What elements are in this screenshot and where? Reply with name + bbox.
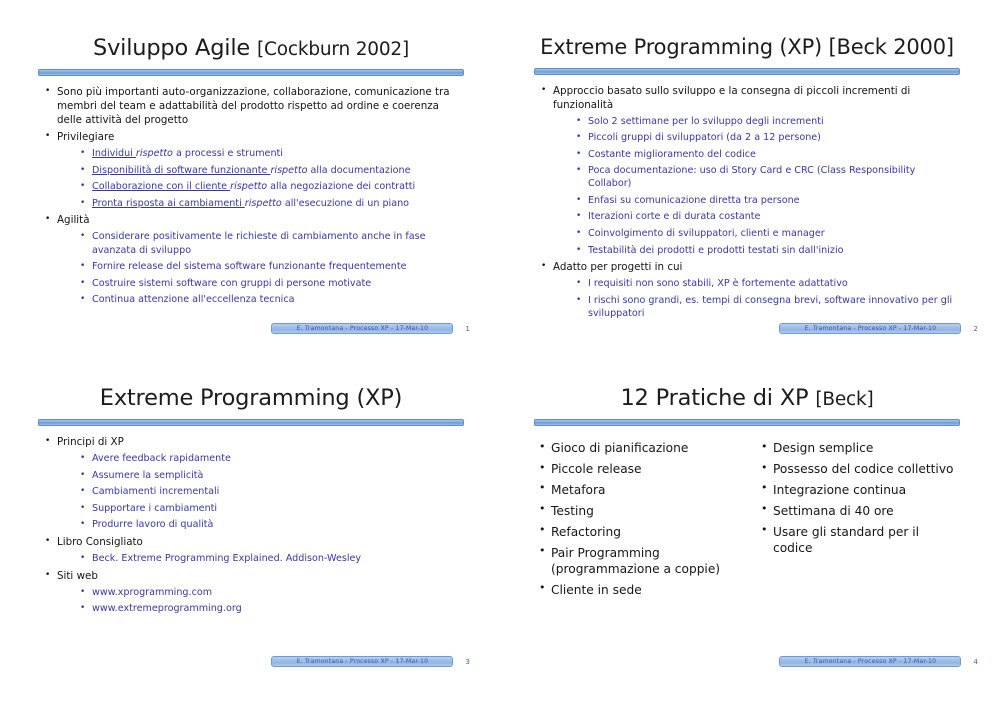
bullet-level2: •Assumere la semplicità: [79, 469, 464, 482]
bullet-level2-text-italic: rispetto: [245, 198, 282, 209]
bullet-level2-text: Poca documentazione: uso di Story Card e…: [588, 165, 915, 189]
bullet-level2-text: Fornire release del sistema software fun…: [92, 261, 407, 272]
bullet-level2-text: Coinvolgimento di sviluppatori, clienti …: [588, 228, 825, 239]
bullet-level2-text: all'esecuzione di un piano: [282, 198, 409, 209]
footer-text: E. Tramontana - Processo XP - 17-Mar-10: [297, 325, 429, 332]
bullet-level2-text: a processi e strumenti: [173, 148, 283, 159]
bullet-dot-icon: •: [80, 518, 85, 530]
bullet-level2-text: Piccoli gruppi di sviluppatori (da 2 a 1…: [588, 132, 821, 143]
bullet-level2-text-underline: Pronta risposta ai cambiamenti: [92, 198, 245, 209]
practices-column-left: •Gioco di pianificazione •Piccole releas…: [538, 440, 738, 602]
slide-3-footer: E. Tramontana - Processo XP - 17-Mar-10 …: [271, 656, 470, 667]
bullet-dot-icon: •: [80, 197, 85, 209]
slide-3-accent-bar: [38, 419, 464, 426]
bullet-level2-text: Beck. Extreme Programming Explained. Add…: [92, 553, 361, 564]
bullet-dot-icon: •: [45, 130, 50, 142]
bullet-level2-text: Supportare i cambiamenti: [92, 503, 217, 514]
bullet-dot-icon: •: [80, 469, 85, 481]
bullet-level2-text-link[interactable]: www.xprogramming.com: [92, 587, 212, 598]
bullet-level2: •Beck. Extreme Programming Explained. Ad…: [79, 552, 464, 565]
bullet-level2: •Costante miglioramento del codice: [575, 148, 960, 161]
bullet-level2-text: Costante miglioramento del codice: [588, 149, 756, 160]
bullet-dot-icon: •: [80, 277, 85, 289]
bullet-level2-text: Cambiamenti incrementali: [92, 486, 219, 497]
bullet-dot-icon: •: [80, 260, 85, 272]
bullet-level2-text: Enfasi su comunicazione diretta tra pers…: [588, 195, 800, 206]
bullet-level2-text: I requisiti non sono stabili, XP è forte…: [588, 278, 848, 289]
bullet-level1: • Libro Consigliato •Beck. Extreme Progr…: [44, 535, 464, 565]
bullet-level2-text-italic: rispetto: [230, 181, 267, 192]
bullet-level1-text: Agilità: [57, 214, 90, 226]
practice-item: •Refactoring: [538, 524, 738, 540]
slide-4-accent-bar: [534, 419, 960, 426]
bullet-dot-icon: •: [539, 523, 546, 538]
bullet-level1: • Adatto per progetti in cui •I requisit…: [540, 260, 960, 320]
bullet-level2-text: Continua attenzione all'eccellenza tecni…: [92, 294, 294, 305]
bullet-dot-icon: •: [45, 535, 50, 547]
bullet-level2-text: Considerare positivamente le richieste d…: [92, 231, 426, 255]
slide-1-title-main: Sviluppo Agile: [93, 35, 257, 61]
bullet-level2-text: Produrre lavoro di qualità: [92, 519, 213, 530]
bullet-dot-icon: •: [539, 461, 546, 476]
bullet-dot-icon: •: [576, 115, 581, 127]
slide-2-title-main: Extreme Programming (XP): [540, 35, 828, 59]
bullet-level2-text: Costruire sistemi software con gruppi di…: [92, 278, 371, 289]
bullet-level1-text: Privilegiare: [57, 131, 114, 143]
bullet-dot-icon: •: [80, 293, 85, 305]
bullet-dot-icon: •: [80, 485, 85, 497]
bullet-level2: •I requisiti non sono stabili, XP è fort…: [575, 277, 960, 290]
practice-item: •Piccole release: [538, 461, 738, 477]
footer-text: E. Tramontana - Processo XP - 17-Mar-10: [805, 658, 937, 665]
slide-number: 2: [973, 324, 978, 333]
bullet-level1-text: Adatto per progetti in cui: [553, 261, 682, 273]
practice-item: •Cliente in sede: [538, 582, 738, 598]
slide-3-title: Extreme Programming (XP): [38, 362, 464, 410]
slide-2-footer: E. Tramontana - Processo XP - 17-Mar-10 …: [779, 323, 978, 334]
practice-text: Piccole release: [551, 462, 642, 476]
bullet-dot-icon: •: [80, 452, 85, 464]
footer-plate: E. Tramontana - Processo XP - 17-Mar-10: [271, 323, 453, 334]
bullet-level1: • Privilegiare • Individui rispetto a pr…: [44, 130, 464, 210]
practice-text: Pair Programming (programmazione a coppi…: [551, 546, 720, 576]
bullet-dot-icon: •: [576, 244, 581, 256]
bullet-dot-icon: •: [80, 180, 85, 192]
slide-1[interactable]: Sviluppo Agile [Cockburn 2002] • Sono pi…: [0, 0, 496, 350]
slide-4-title: 12 Pratiche di XP [Beck]: [534, 362, 960, 410]
bullet-level2-text: I rischi sono grandi, es. tempi di conse…: [588, 295, 952, 319]
bullet-level2: • Considerare positivamente le richieste…: [79, 230, 464, 256]
bullet-dot-icon: •: [539, 502, 546, 517]
sub-bullet-list: •Beck. Extreme Programming Explained. Ad…: [57, 552, 464, 565]
slide-1-title: Sviluppo Agile [Cockburn 2002]: [38, 12, 464, 60]
practice-text: Settimana di 40 ore: [773, 504, 894, 518]
bullet-level2-text-link[interactable]: www.extremeprogramming.org: [92, 603, 242, 614]
bullet-level2: •Coinvolgimento di sviluppatori, clienti…: [575, 227, 960, 240]
slide-1-accent-bar: [38, 69, 464, 76]
bullet-level2: • Costruire sistemi software con gruppi …: [79, 277, 464, 290]
bullet-dot-icon: •: [80, 230, 85, 242]
bullet-level2: •Produrre lavoro di qualità: [79, 518, 464, 531]
slide-number: 4: [973, 657, 978, 666]
bullet-level2-text: Solo 2 settimane per lo sviluppo degli i…: [588, 116, 824, 127]
bullet-level2: •Supportare i cambiamenti: [79, 502, 464, 515]
practice-item: •Possesso del codice collettivo: [760, 461, 960, 477]
slide-2[interactable]: Extreme Programming (XP) [Beck 2000] • A…: [496, 0, 992, 350]
bullet-dot-icon: •: [576, 164, 581, 176]
footer-plate: E. Tramontana - Processo XP - 17-Mar-10: [271, 656, 453, 667]
bullet-dot-icon: •: [80, 552, 85, 564]
practice-item: •Integrazione continua: [760, 482, 960, 498]
bullet-level2-text: Assumere la semplicità: [92, 470, 203, 481]
bullet-level2: • Disponibilità di software funzionante …: [79, 164, 464, 177]
slide-4-footer: E. Tramontana - Processo XP - 17-Mar-10 …: [779, 656, 978, 667]
practice-text: Design semplice: [773, 441, 873, 455]
bullet-level2: •www.extremeprogramming.org: [79, 602, 464, 615]
bullet-dot-icon: •: [541, 84, 546, 96]
slide-1-title-citation: [Cockburn 2002]: [257, 39, 409, 60]
bullet-dot-icon: •: [45, 85, 50, 97]
slide-1-footer: E. Tramontana - Processo XP - 17-Mar-10 …: [271, 323, 470, 334]
bullet-level2: •Avere feedback rapidamente: [79, 452, 464, 465]
bullet-level2: • Collaborazione con il cliente rispetto…: [79, 180, 464, 193]
bullet-dot-icon: •: [761, 523, 768, 538]
bullet-dot-icon: •: [539, 440, 546, 455]
bullet-level2: •Testabilità dei prodotti e prodotti tes…: [575, 244, 960, 257]
bullet-dot-icon: •: [576, 131, 581, 143]
slide-2-title: Extreme Programming (XP) [Beck 2000]: [534, 12, 960, 59]
bullet-level1: • Agilità • Considerare positivamente le…: [44, 213, 464, 306]
bullet-dot-icon: •: [539, 581, 546, 596]
slide-number: 3: [465, 657, 470, 666]
bullet-dot-icon: •: [576, 194, 581, 206]
bullet-level2: •Piccoli gruppi di sviluppatori (da 2 a …: [575, 131, 960, 144]
practice-item: •Metafora: [538, 482, 738, 498]
sub-bullet-list: •I requisiti non sono stabili, XP è fort…: [553, 277, 960, 320]
slide-2-accent-bar: [534, 68, 960, 75]
sub-bullet-list: • Individui rispetto a processi e strume…: [57, 147, 464, 210]
bullet-dot-icon: •: [761, 461, 768, 476]
bullet-level1-text: Approccio basato sullo sviluppo e la con…: [553, 85, 910, 111]
practice-text: Cliente in sede: [551, 583, 642, 597]
footer-text: E. Tramontana - Processo XP - 17-Mar-10: [297, 658, 429, 665]
bullet-level2: • Continua attenzione all'eccellenza tec…: [79, 293, 464, 306]
practice-text: Possesso del codice collettivo: [773, 462, 954, 476]
sub-bullet-list: •www.xprogramming.com •www.extremeprogra…: [57, 586, 464, 616]
bullet-dot-icon: •: [761, 481, 768, 496]
bullet-level2: •Solo 2 settimane per lo sviluppo degli …: [575, 115, 960, 128]
bullet-dot-icon: •: [576, 210, 581, 222]
practice-text: Testing: [551, 504, 594, 518]
bullet-dot-icon: •: [576, 294, 581, 306]
bullet-dot-icon: •: [45, 213, 50, 225]
practice-item: •Usare gli standard per il codice: [760, 524, 960, 557]
practice-item: •Pair Programming (programmazione a copp…: [538, 545, 738, 578]
bullet-level2-text: Iterazioni corte e di durata costante: [588, 211, 760, 222]
bullet-level1: • Principi di XP •Avere feedback rapidam…: [44, 435, 464, 531]
bullet-level2-text-italic: rispetto: [270, 165, 307, 176]
bullet-dot-icon: •: [539, 481, 546, 496]
bullet-dot-icon: •: [45, 435, 50, 447]
practice-item: •Design semplice: [760, 440, 960, 456]
sub-bullet-list: •Solo 2 settimane per lo sviluppo degli …: [553, 115, 960, 257]
footer-plate: E. Tramontana - Processo XP - 17-Mar-10: [779, 323, 961, 334]
sub-bullet-list: •Avere feedback rapidamente •Assumere la…: [57, 452, 464, 531]
footer-text: E. Tramontana - Processo XP - 17-Mar-10: [805, 325, 937, 332]
bullet-level1-text: Sono più importanti auto-organizzazione,…: [57, 86, 450, 126]
bullet-level2: •Cambiamenti incrementali: [79, 485, 464, 498]
practice-text: Refactoring: [551, 525, 621, 539]
bullet-dot-icon: •: [761, 502, 768, 517]
bullet-level2: • Pronta risposta ai cambiamenti rispett…: [79, 197, 464, 210]
bullet-dot-icon: •: [541, 260, 546, 272]
practices-columns: •Gioco di pianificazione •Piccole releas…: [534, 440, 960, 602]
bullet-level2: •I rischi sono grandi, es. tempi di cons…: [575, 294, 960, 320]
bullet-dot-icon: •: [45, 569, 50, 581]
footer-plate: E. Tramontana - Processo XP - 17-Mar-10: [779, 656, 961, 667]
practice-item: •Settimana di 40 ore: [760, 503, 960, 519]
bullet-level2-text-underline: Individui: [92, 148, 136, 159]
bullet-dot-icon: •: [576, 277, 581, 289]
practice-text: Integrazione continua: [773, 483, 906, 497]
practice-text: Metafora: [551, 483, 606, 497]
bullet-level1: • Approccio basato sullo sviluppo e la c…: [540, 84, 960, 257]
bullet-level2-text: Avere feedback rapidamente: [92, 453, 231, 464]
bullet-dot-icon: •: [576, 227, 581, 239]
slide-2-bullet-list: • Approccio basato sullo sviluppo e la c…: [534, 84, 960, 320]
bullet-level1: • Siti web •www.xprogramming.com •www.ex…: [44, 569, 464, 616]
bullet-dot-icon: •: [576, 148, 581, 160]
bullet-level2: •www.xprogramming.com: [79, 586, 464, 599]
bullet-level2-text-italic: rispetto: [136, 148, 173, 159]
bullet-dot-icon: •: [80, 164, 85, 176]
slide-4-title-citation: [Beck]: [815, 389, 873, 410]
bullet-dot-icon: •: [761, 440, 768, 455]
practice-text: Gioco di pianificazione: [551, 441, 688, 455]
practice-item: •Testing: [538, 503, 738, 519]
bullet-dot-icon: •: [80, 586, 85, 598]
practices-column-right: •Design semplice •Possesso del codice co…: [760, 440, 960, 602]
bullet-level1-text: Siti web: [57, 570, 98, 582]
bullet-dot-icon: •: [80, 502, 85, 514]
bullet-level2-text-underline: Disponibilità di software funzionante: [92, 165, 270, 176]
bullet-level2: • Individui rispetto a processi e strume…: [79, 147, 464, 160]
slide-3-title-main: Extreme Programming (XP): [100, 385, 402, 411]
slide-3-bullet-list: • Principi di XP •Avere feedback rapidam…: [38, 435, 464, 615]
slide-1-bullet-list: • Sono più importanti auto-organizzazion…: [38, 85, 464, 306]
bullet-dot-icon: •: [80, 147, 85, 159]
bullet-dot-icon: •: [539, 544, 546, 559]
practice-text: Usare gli standard per il codice: [773, 525, 919, 555]
bullet-level2-text-underline: Collaborazione con il cliente: [92, 181, 230, 192]
bullet-level2-text: Testabilità dei prodotti e prodotti test…: [588, 245, 843, 256]
bullet-level1: • Sono più importanti auto-organizzazion…: [44, 85, 464, 127]
bullet-level1-text: Libro Consigliato: [57, 536, 143, 548]
bullet-level1-text: Principi di XP: [57, 436, 124, 448]
bullet-level2: •Iterazioni corte e di durata costante: [575, 210, 960, 223]
bullet-level2: • Fornire release del sistema software f…: [79, 260, 464, 273]
slide-4[interactable]: 12 Pratiche di XP [Beck] •Gioco di piani…: [496, 350, 992, 701]
bullet-dot-icon: •: [80, 602, 85, 614]
slide-number: 1: [465, 324, 470, 333]
handout-page: Sviluppo Agile [Cockburn 2002] • Sono pi…: [0, 0, 992, 701]
bullet-level2: •Poca documentazione: uso di Story Card …: [575, 164, 960, 190]
bullet-level2-text: alla documentazione: [307, 165, 410, 176]
slide-3[interactable]: Extreme Programming (XP) • Principi di X…: [0, 350, 496, 701]
slide-2-title-citation: [Beck 2000]: [829, 35, 954, 59]
bullet-level2: •Enfasi su comunicazione diretta tra per…: [575, 194, 960, 207]
practice-item: •Gioco di pianificazione: [538, 440, 738, 456]
sub-bullet-list: • Considerare positivamente le richieste…: [57, 230, 464, 306]
slide-4-title-main: 12 Pratiche di XP: [620, 385, 815, 411]
bullet-level2-text: alla negoziazione dei contratti: [267, 181, 415, 192]
